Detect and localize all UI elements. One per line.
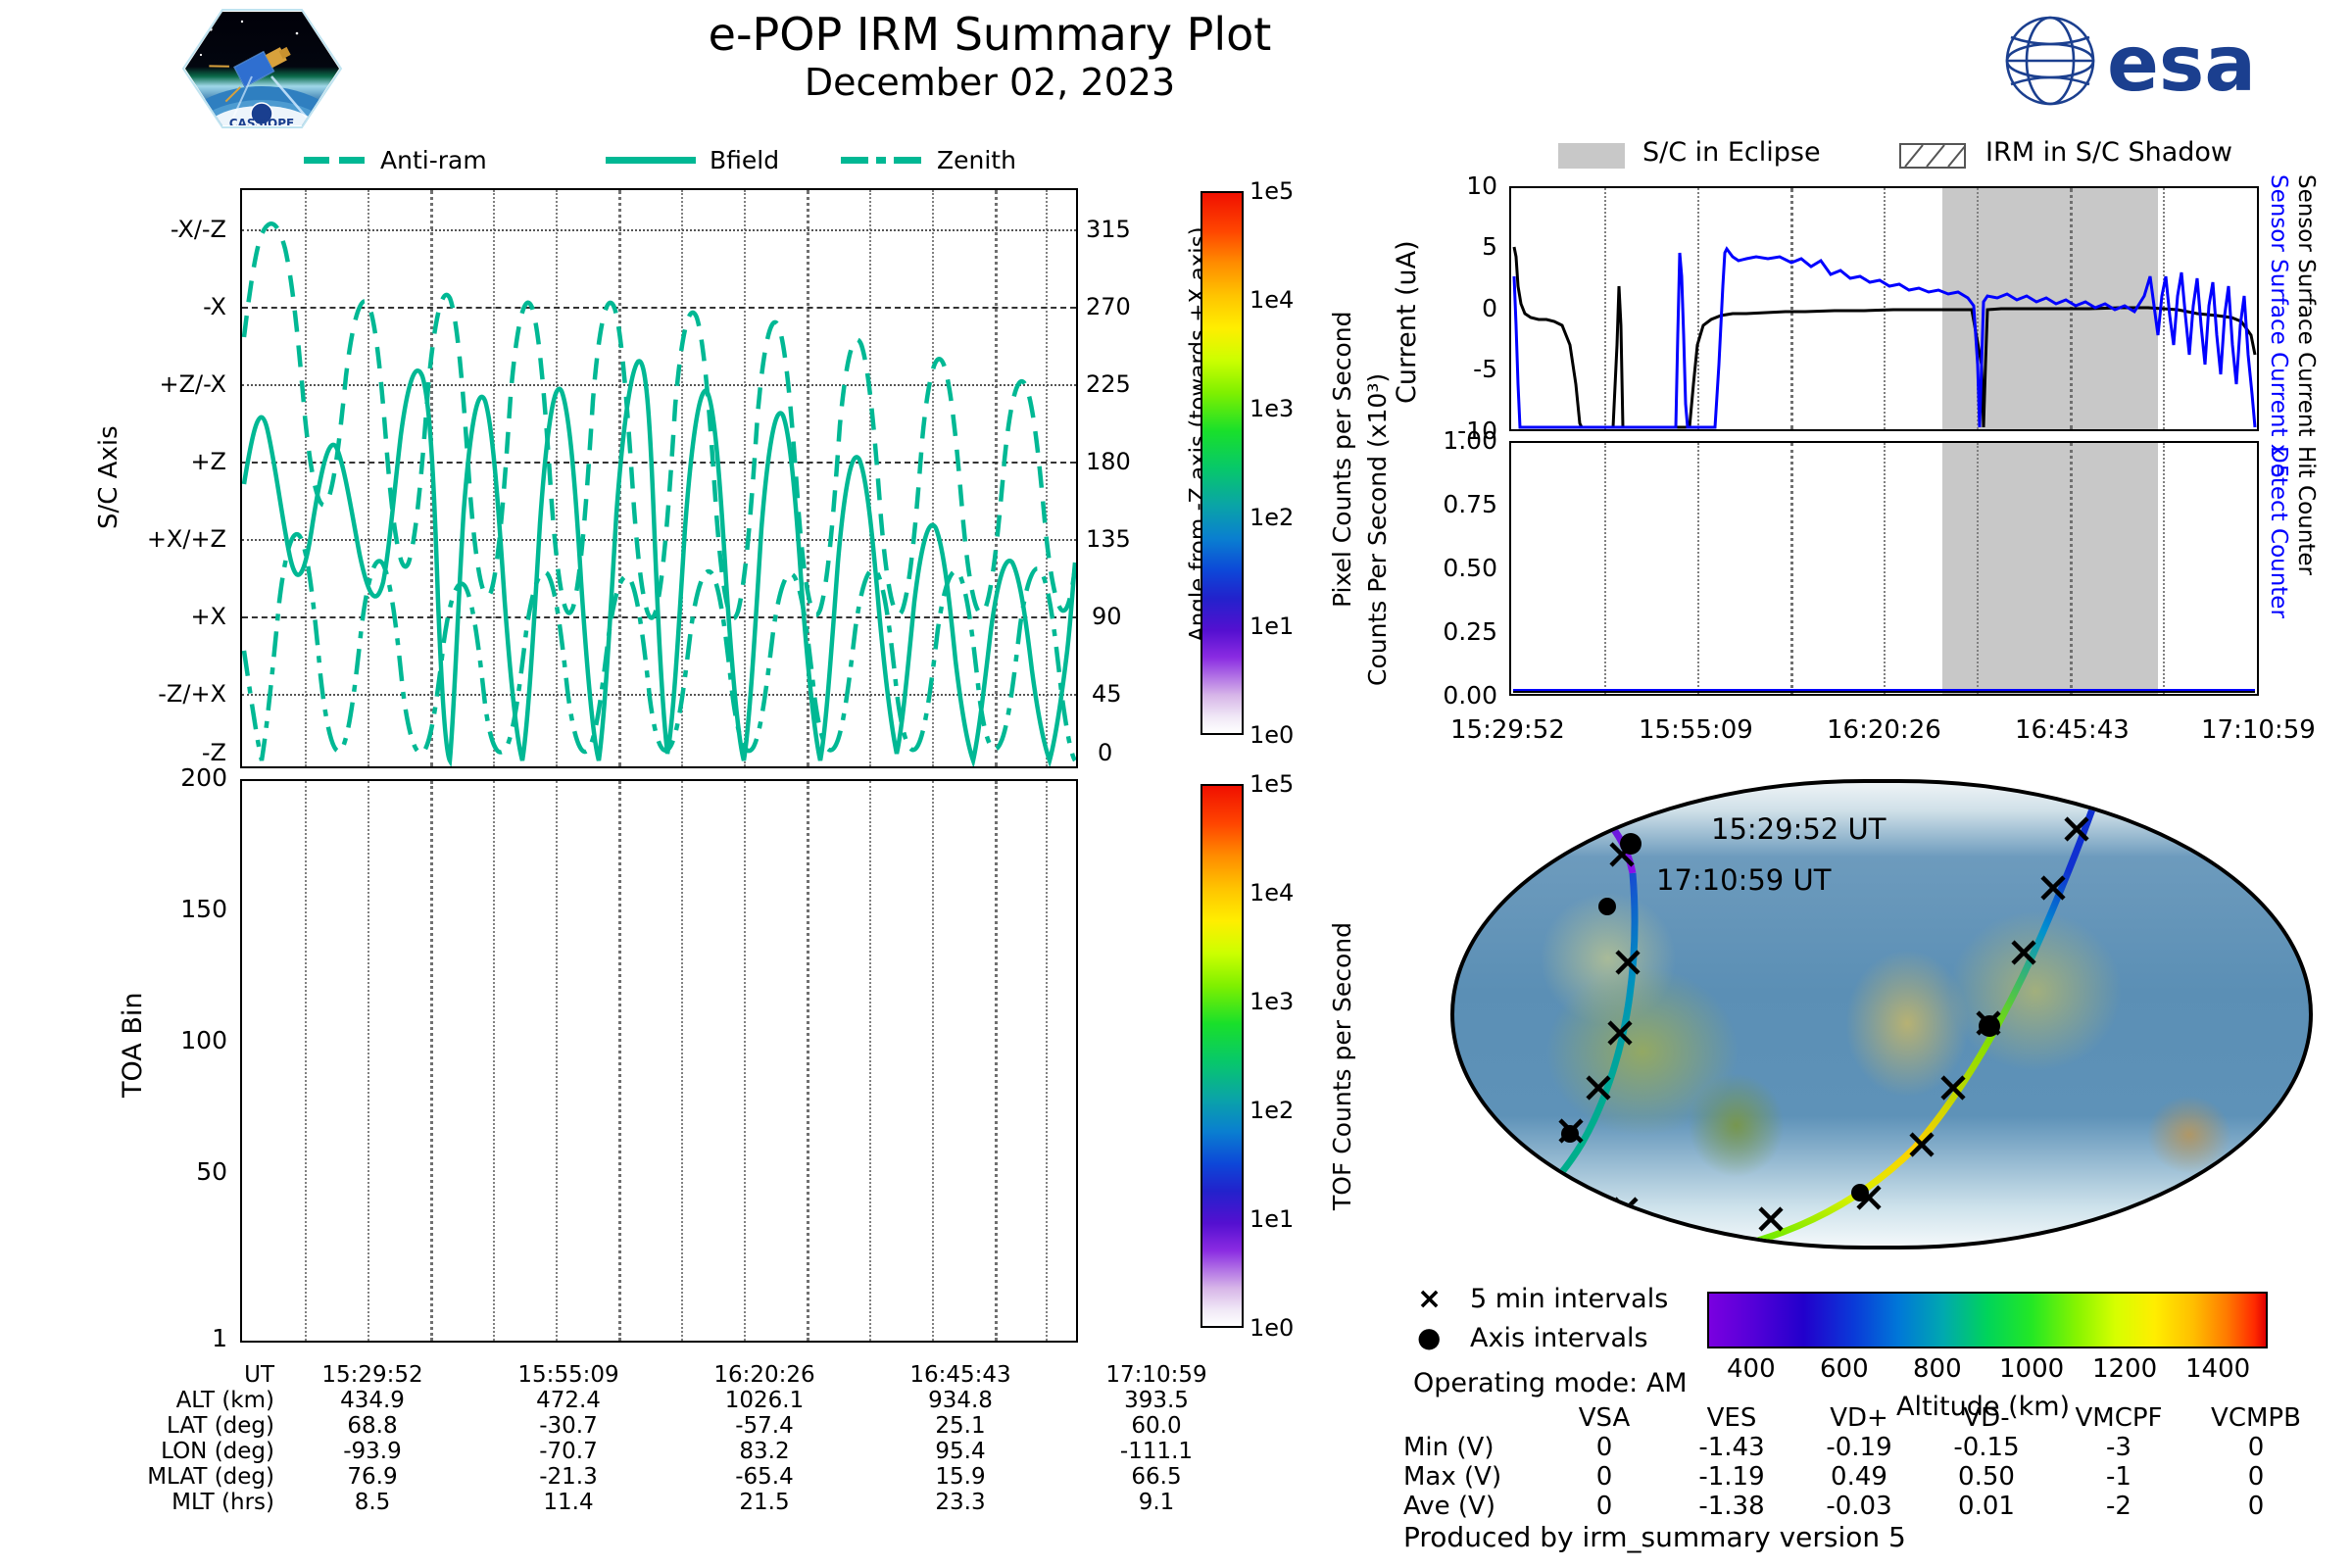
row-label: UT (93, 1362, 274, 1388)
cassiope-logo: CASSIOPE (181, 8, 343, 130)
cell: -0.03 (1795, 1492, 1923, 1521)
cell: -93.9 (274, 1439, 470, 1464)
legend-swatch-zenith-dot (876, 157, 886, 164)
table-row: ALT (km) 434.9 472.4 1026.1 934.8 393.5 (93, 1388, 1254, 1413)
cell: 0 (1541, 1492, 1668, 1521)
ytick-label: +Z/-X (159, 370, 226, 398)
cell: -0.19 (1795, 1433, 1923, 1462)
cell: 15:29:52 (274, 1362, 470, 1388)
cell: 76.9 (274, 1464, 470, 1490)
cbar-tick: 1e0 (1249, 1314, 1294, 1342)
cell: 393.5 (1058, 1388, 1254, 1413)
map-legend-label-cross: 5 min intervals (1470, 1284, 1668, 1314)
row-label: LAT (deg) (93, 1413, 274, 1439)
cbar-tick: 1e3 (1249, 395, 1294, 422)
row-label: Max (V) (1403, 1462, 1541, 1492)
row-label: LON (deg) (93, 1439, 274, 1464)
row-label: ALT (km) (93, 1388, 274, 1413)
current-ytick-labels: 10 5 0 -5 -10 (1419, 186, 1501, 431)
ytick-label: +X (190, 603, 226, 630)
cell: 934.8 (862, 1388, 1058, 1413)
gridline-v-major (618, 781, 621, 1341)
table-row: Max (V) 0 -1.19 0.49 0.50 -1 0 (1403, 1462, 2325, 1492)
cell: 472.4 (470, 1388, 666, 1413)
cbar-tick: 1e0 (1249, 721, 1294, 749)
map-legend-label-dot: Axis intervals (1470, 1323, 1648, 1353)
ytick-label: 10 (1466, 171, 1497, 200)
cbar-tick: 1200 (2092, 1354, 2157, 1384)
legend-label-anti-ram: Anti-ram (380, 146, 487, 174)
gridline-v (305, 781, 307, 1341)
produced-by-footer: Produced by irm_summary version 5 (1403, 1521, 1906, 1553)
gridline-v (556, 781, 558, 1341)
cell: -1.19 (1668, 1462, 1795, 1492)
ytick-label: 5 (1482, 232, 1497, 261)
ytick-label: 1.00 (1443, 426, 1497, 455)
ytick-label: -5 (1473, 355, 1497, 383)
eclipse-legend: S/C in Eclipse IRM in S/C Shadow (1558, 137, 2342, 178)
ytick-label: 90 (1092, 603, 1122, 630)
cbar-tick: 1e5 (1249, 770, 1294, 798)
current-plot (1509, 186, 2259, 431)
gridline-v (869, 781, 871, 1341)
col-header: VMCPF (2050, 1403, 2187, 1433)
ytick-label: +X/+Z (147, 525, 226, 553)
cell: 0.50 (1923, 1462, 2050, 1492)
xtick-label: 16:45:43 (2015, 715, 2130, 745)
legend-swatch-anti-ram (304, 157, 329, 164)
cell: -57.4 (666, 1413, 862, 1439)
cell: 0.01 (1923, 1492, 2050, 1521)
cell: -1 (2050, 1462, 2187, 1492)
attitude-legend: Anti-ram Bfield Zenith (294, 142, 1019, 181)
col-header: VSA (1541, 1403, 1668, 1433)
counts-right-label-black: Hit Counter (2293, 446, 2319, 575)
cell: -70.7 (470, 1439, 666, 1464)
current-traces (1511, 188, 2257, 429)
ytick-label: 0.25 (1443, 617, 1497, 646)
cell: 83.2 (666, 1439, 862, 1464)
ytick-label: 135 (1086, 525, 1131, 553)
cbar-tick: 1e4 (1249, 879, 1294, 906)
ytick-label: 200 (180, 763, 227, 792)
map-annotation-end: 17:10:59 UT (1656, 863, 1831, 897)
ground-track-map: 15:29:52 UT 17:10:59 UT (1450, 779, 2313, 1249)
attitude-plot (240, 188, 1078, 768)
cell: -65.4 (666, 1464, 862, 1490)
cbar-tick: 400 (1727, 1354, 1776, 1384)
gridline-v-major (430, 781, 433, 1341)
cell: 0 (1541, 1462, 1668, 1492)
row-label: Ave (V) (1403, 1492, 1541, 1521)
cbar-tick: 1e1 (1249, 1205, 1294, 1233)
cell: 0 (2187, 1462, 2325, 1492)
cell: 434.9 (274, 1388, 470, 1413)
ephemeris-table: UT 15:29:52 15:55:09 16:20:26 16:45:43 1… (93, 1362, 1254, 1515)
altitude-colorbar (1707, 1292, 2268, 1348)
toa-ylabel: TOA Bin (118, 993, 148, 1098)
toa-plot (240, 779, 1078, 1343)
cell: 60.0 (1058, 1413, 1254, 1439)
legend-swatch-shadow (1899, 143, 1966, 169)
ytick-label: 0.50 (1443, 554, 1497, 582)
ytick-label: 0 (1482, 294, 1497, 322)
col-header: VD- (1923, 1403, 2050, 1433)
table-row: LON (deg) -93.9 -70.7 83.2 95.4 -111.1 (93, 1439, 1254, 1464)
legend-swatch-zenith (841, 157, 868, 164)
cell: -2 (2050, 1492, 2187, 1521)
col-header: VCMPB (2187, 1403, 2325, 1433)
cell: 21.5 (666, 1490, 862, 1515)
ytick-label: -X/-Z (171, 216, 226, 243)
esa-logo: esa (1989, 12, 2323, 110)
table-row: LAT (deg) 68.8 -30.7 -57.4 25.1 60.0 (93, 1413, 1254, 1439)
legend-label-shadow: IRM in S/C Shadow (1985, 137, 2232, 168)
map-legend-symbol-cross: × (1417, 1282, 1442, 1316)
xtick-label: 17:10:59 (2201, 715, 2316, 745)
ytick-label: 270 (1086, 293, 1131, 320)
attitude-ytick-labels-right: 315 270 225 180 135 90 45 0 (1086, 188, 1174, 768)
cbar-tick: 1e1 (1249, 612, 1294, 640)
table-row: MLT (hrs) 8.5 11.4 21.5 23.3 9.1 (93, 1490, 1254, 1515)
gridline-v (681, 781, 683, 1341)
cell: 1026.1 (666, 1388, 862, 1413)
gridline-v (744, 781, 746, 1341)
cell: 23.3 (862, 1490, 1058, 1515)
cbar-tick: 1400 (2185, 1354, 2250, 1384)
tof-counts-colorbar (1200, 784, 1244, 1328)
cell: 11.4 (470, 1490, 666, 1515)
toa-ytick-labels: 200 150 100 50 1 (137, 779, 233, 1343)
table-row: MLAT (deg) 76.9 -21.3 -65.4 15.9 66.5 (93, 1464, 1254, 1490)
ytick-label: -X (203, 293, 226, 320)
counts-right-label-blue: Detect Counter (2266, 446, 2291, 618)
ytick-label: 0 (1098, 739, 1112, 766)
legend-label-eclipse: S/C in Eclipse (1642, 137, 1821, 168)
cbar-tick: 1e2 (1249, 504, 1294, 531)
xtick-label: 15:29:52 (1450, 715, 1565, 745)
cell: 17:10:59 (1058, 1362, 1254, 1388)
cell: 0 (2187, 1433, 2325, 1462)
current-right-label-blue: Sensor Surface Current x 5 (2266, 174, 2291, 478)
table-row: UT 15:29:52 15:55:09 16:20:26 16:45:43 1… (93, 1362, 1254, 1388)
cell: 9.1 (1058, 1490, 1254, 1515)
ytick-label: 315 (1086, 216, 1131, 243)
legend-label-zenith: Zenith (937, 146, 1016, 174)
table-row: Min (V) 0 -1.43 -0.19 -0.15 -3 0 (1403, 1433, 2325, 1462)
altitude-colorbar-ticks: 400 600 800 1000 1200 1400 (1707, 1354, 2268, 1390)
gridline-v-major (995, 781, 998, 1341)
gridline-v (1046, 781, 1048, 1341)
cell: 0 (1541, 1433, 1668, 1462)
legend-swatch-bfield (606, 157, 696, 164)
map-overlay (1454, 783, 2309, 1246)
xtick-label: 16:20:26 (1827, 715, 1941, 745)
xtick-label: 15:55:09 (1639, 715, 1753, 745)
voltage-table: VSA VES VD+ VD- VMCPF VCMPB Min (V) 0 -1… (1403, 1403, 2325, 1521)
row-label: MLT (hrs) (93, 1490, 274, 1515)
legend-swatch-zenith-2 (894, 157, 921, 164)
current-right-label-black: Sensor Surface Current (2293, 174, 2319, 436)
cbar-tick: 1e5 (1249, 177, 1294, 205)
ytick-label: 0.00 (1443, 681, 1497, 710)
cell: 16:45:43 (862, 1362, 1058, 1388)
legend-swatch-eclipse (1558, 143, 1625, 169)
table-header-row: VSA VES VD+ VD- VMCPF VCMPB (1403, 1403, 2325, 1433)
ytick-label: 100 (180, 1026, 227, 1054)
time-axis-labels: 15:29:52 15:55:09 16:20:26 16:45:43 17:1… (1411, 715, 2352, 755)
ytick-label: +Z (190, 448, 226, 475)
attitude-ylabel-left: S/C Axis (94, 425, 123, 529)
ytick-label: 50 (196, 1157, 227, 1186)
row-label: Min (V) (1403, 1433, 1541, 1462)
cell: -111.1 (1058, 1439, 1254, 1464)
cell: -21.3 (470, 1464, 666, 1490)
cell: 15.9 (862, 1464, 1058, 1490)
cell: 68.8 (274, 1413, 470, 1439)
page-subtitle: December 02, 2023 (549, 61, 1431, 104)
ytick-label: -Z/+X (158, 680, 226, 708)
pixel-counts-colorbar (1200, 191, 1244, 735)
tof-counts-colorbar-label: TOF Counts per Second (1328, 922, 1356, 1210)
page-title: e-POP IRM Summary Plot (549, 8, 1431, 61)
col-header (1403, 1403, 1541, 1433)
map-annotation-start: 15:29:52 UT (1711, 812, 1886, 846)
gridline-v-major (807, 781, 809, 1341)
cell: -1.43 (1668, 1433, 1795, 1462)
col-header: VES (1668, 1403, 1795, 1433)
cell: -30.7 (470, 1413, 666, 1439)
legend-label-bfield: Bfield (710, 146, 779, 174)
cbar-tick: 1e4 (1249, 286, 1294, 314)
cell: 16:20:26 (666, 1362, 862, 1388)
cbar-tick: 600 (1820, 1354, 1869, 1384)
cell: 66.5 (1058, 1464, 1254, 1490)
cell: 95.4 (862, 1439, 1058, 1464)
current-ylabel: Current (uA) (1392, 240, 1422, 404)
cell: 0 (2187, 1492, 2325, 1521)
ytick-label: -Z (202, 739, 226, 766)
svg-text:esa: esa (2107, 21, 2256, 109)
ytick-label: 0.75 (1443, 490, 1497, 518)
cbar-tick: 1e3 (1249, 988, 1294, 1015)
ytick-label: 180 (1086, 448, 1131, 475)
ytick-label: 1 (212, 1324, 227, 1352)
gridline-v (493, 781, 495, 1341)
counts-ylabel: Counts Per Second (x10³) (1364, 373, 1392, 686)
cell: 0.49 (1795, 1462, 1923, 1492)
gridline-v (367, 781, 369, 1341)
cell: 25.1 (862, 1413, 1058, 1439)
counts-traces (1511, 443, 2257, 694)
cell: -0.15 (1923, 1433, 2050, 1462)
gridline-v (932, 781, 934, 1341)
table-row: Ave (V) 0 -1.38 -0.03 0.01 -2 0 (1403, 1492, 2325, 1521)
ytick-label: 225 (1086, 370, 1131, 398)
cbar-tick: 1e2 (1249, 1097, 1294, 1124)
row-label: MLAT (deg) (93, 1464, 274, 1490)
ytick-label: 45 (1092, 680, 1122, 708)
ytick-label: 150 (180, 895, 227, 923)
counts-ytick-labels: 1.00 0.75 0.50 0.25 0.00 (1392, 441, 1501, 696)
cbar-tick: 800 (1913, 1354, 1962, 1384)
legend-swatch-anti-ram-2 (339, 157, 365, 164)
cell: 15:55:09 (470, 1362, 666, 1388)
cell: -3 (2050, 1433, 2187, 1462)
col-header: VD+ (1795, 1403, 1923, 1433)
cbar-tick: 1000 (1999, 1354, 2064, 1384)
counts-ylabel-text: Counts Per Second (x10³) (1364, 373, 1392, 686)
operating-mode: Operating mode: AM (1413, 1368, 1688, 1398)
cell: 8.5 (274, 1490, 470, 1515)
counts-plot (1509, 441, 2259, 696)
cell: -1.38 (1668, 1492, 1795, 1521)
attitude-traces (242, 190, 1076, 766)
map-legend-symbol-dot: ● (1417, 1321, 1441, 1353)
pixel-counts-colorbar-label: Pixel Counts per Second (1328, 312, 1356, 608)
